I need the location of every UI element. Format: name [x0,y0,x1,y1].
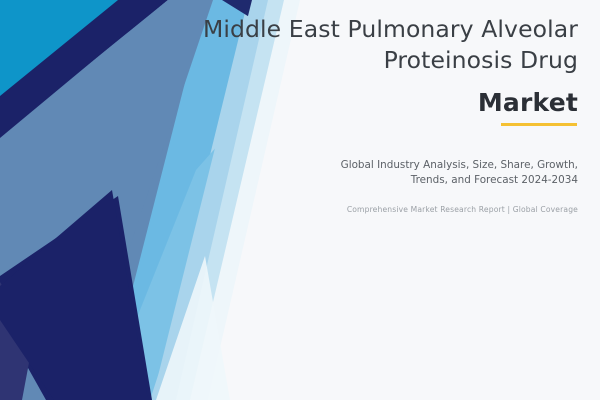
tagline: Comprehensive Market Research Report | G… [158,204,578,216]
market-heading-wrap: Market [158,88,578,126]
market-heading: Market [478,88,578,118]
report-cover: Middle East Pulmonary Alveolar Proteinos… [0,0,600,400]
market-accent-underline [501,123,577,126]
page-title: Middle East Pulmonary Alveolar Proteinos… [158,14,578,76]
cover-text-block: Middle East Pulmonary Alveolar Proteinos… [158,14,578,216]
subtitle-line-1: Global Industry Analysis, Size, Share, G… [341,159,578,171]
title-line-2: Proteinosis Drug [384,46,578,74]
subtitle-line-2: Trends, and Forecast 2024-2034 [411,174,578,186]
title-line-1: Middle East Pulmonary Alveolar [203,15,578,43]
subtitle: Global Industry Analysis, Size, Share, G… [158,158,578,188]
